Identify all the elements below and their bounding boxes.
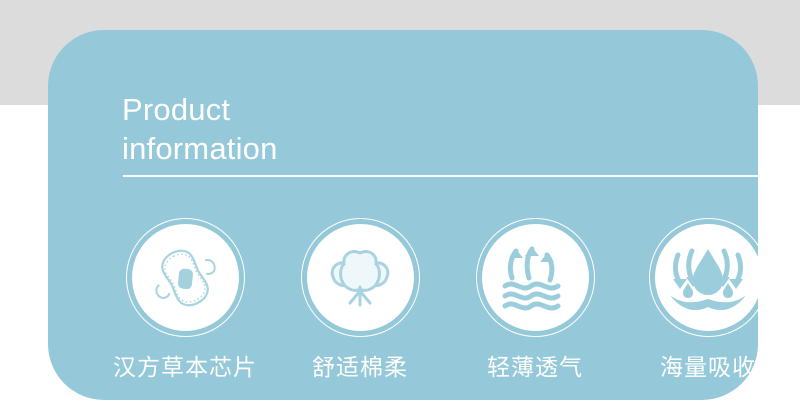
circle-inner-disc — [132, 224, 239, 331]
feature-list: 汉方草本芯片 — [96, 218, 800, 398]
feature-icon-circle — [126, 218, 245, 337]
feature-icon-circle — [301, 218, 420, 337]
feature-item-breathable[interactable]: 轻薄透气 — [460, 218, 610, 379]
page-title: Product information — [122, 90, 278, 169]
absorption-droplet-icon — [668, 243, 748, 313]
feature-item-herbal-core[interactable]: 汉方草本芯片 — [110, 218, 260, 379]
circle-inner-disc — [655, 224, 762, 331]
feature-item-cotton-soft[interactable]: 舒适棉柔 — [285, 218, 435, 379]
feature-label: 舒适棉柔 — [285, 356, 435, 379]
title-divider — [123, 175, 775, 177]
feature-label: 海量吸收 — [633, 356, 783, 379]
feature-label: 汉方草本芯片 — [110, 356, 260, 379]
product-information-banner: Product information — [0, 0, 800, 418]
cotton-boll-icon — [324, 245, 396, 311]
feature-icon-circle — [476, 218, 595, 337]
breathable-airflow-icon — [498, 244, 572, 312]
circle-inner-disc — [482, 224, 589, 331]
product-information-card: Product information — [48, 30, 758, 400]
feature-item-absorption[interactable]: 海量吸收 — [633, 218, 783, 379]
feature-icon-circle — [649, 218, 768, 337]
feature-label: 轻薄透气 — [460, 356, 610, 379]
sanitary-pad-icon — [148, 246, 222, 310]
circle-inner-disc — [307, 224, 414, 331]
